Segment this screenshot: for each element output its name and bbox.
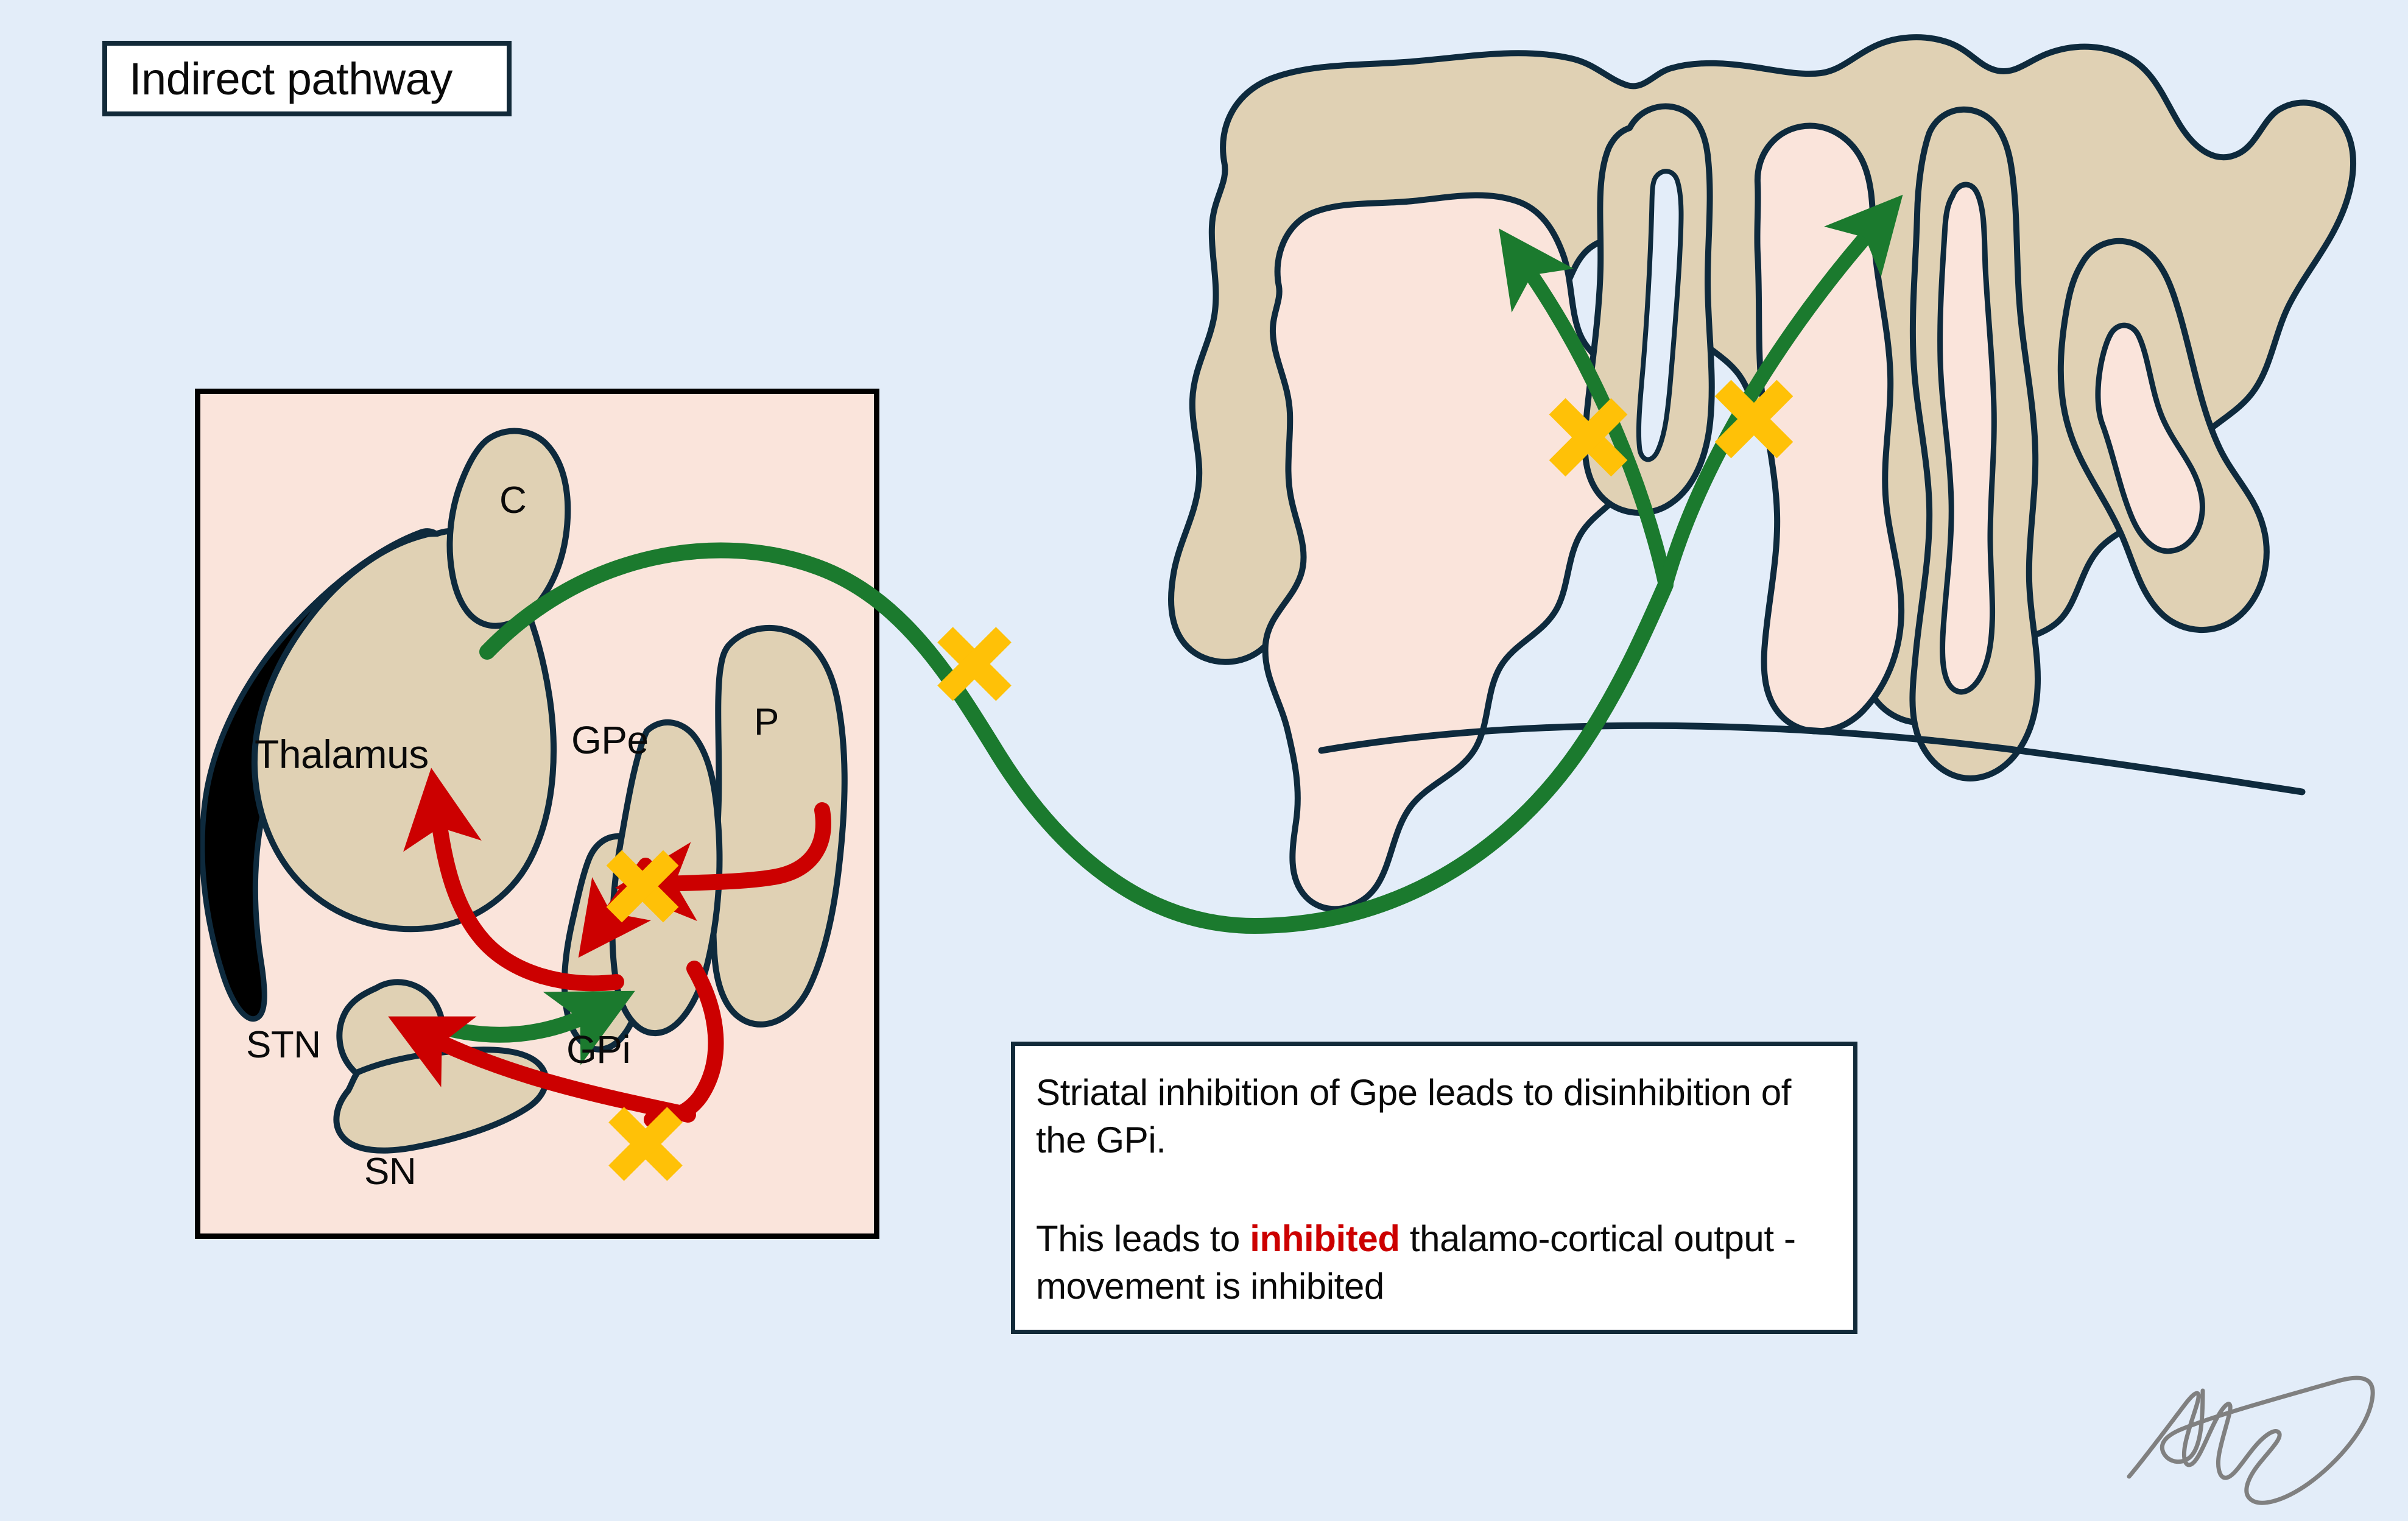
diagram-canvas: Thalamus C GPe P GPi STN SN Indirect pat… [0, 0, 2408, 1521]
signature-mark [0, 0, 2408, 1521]
signature-stroke [2129, 1378, 2373, 1503]
